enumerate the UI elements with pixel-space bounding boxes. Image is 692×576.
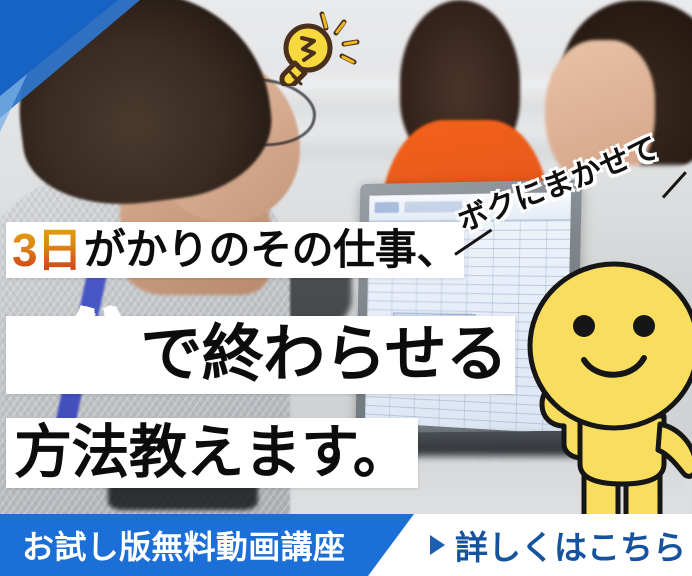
headline-line-2: 3分 で終わらせる bbox=[6, 316, 515, 394]
lightbulb-icon bbox=[262, 6, 372, 86]
headline-1-highlight: 3日 bbox=[12, 227, 84, 273]
play-arrow-icon bbox=[430, 535, 445, 555]
headline-line-3: 方法教えます。 bbox=[6, 418, 418, 488]
corner-triangle-dark bbox=[0, 0, 118, 96]
cta-badge-label: お試し版無料動画講座 bbox=[22, 522, 345, 568]
mascot-character bbox=[492, 238, 692, 528]
headline-2-highlight: 3分 bbox=[14, 312, 138, 387]
headline-1-rest: がかりのその仕事、 bbox=[84, 229, 458, 271]
headline-line-1: 3日 がかりのその仕事、 bbox=[6, 222, 464, 278]
headline-3-text: 方法教えます。 bbox=[14, 424, 410, 482]
cta-link-label: 詳しくはこちら bbox=[455, 521, 686, 569]
promo-banner: 3日 がかりのその仕事、 ボクにまかせて 3分 で終わらせる bbox=[0, 0, 692, 576]
headline-2-rest: で終わらせる bbox=[140, 324, 507, 386]
cta-bar[interactable]: お試し版無料動画講座 詳しくはこちら bbox=[0, 514, 692, 576]
cta-details-link[interactable]: 詳しくはこちら bbox=[430, 521, 686, 569]
